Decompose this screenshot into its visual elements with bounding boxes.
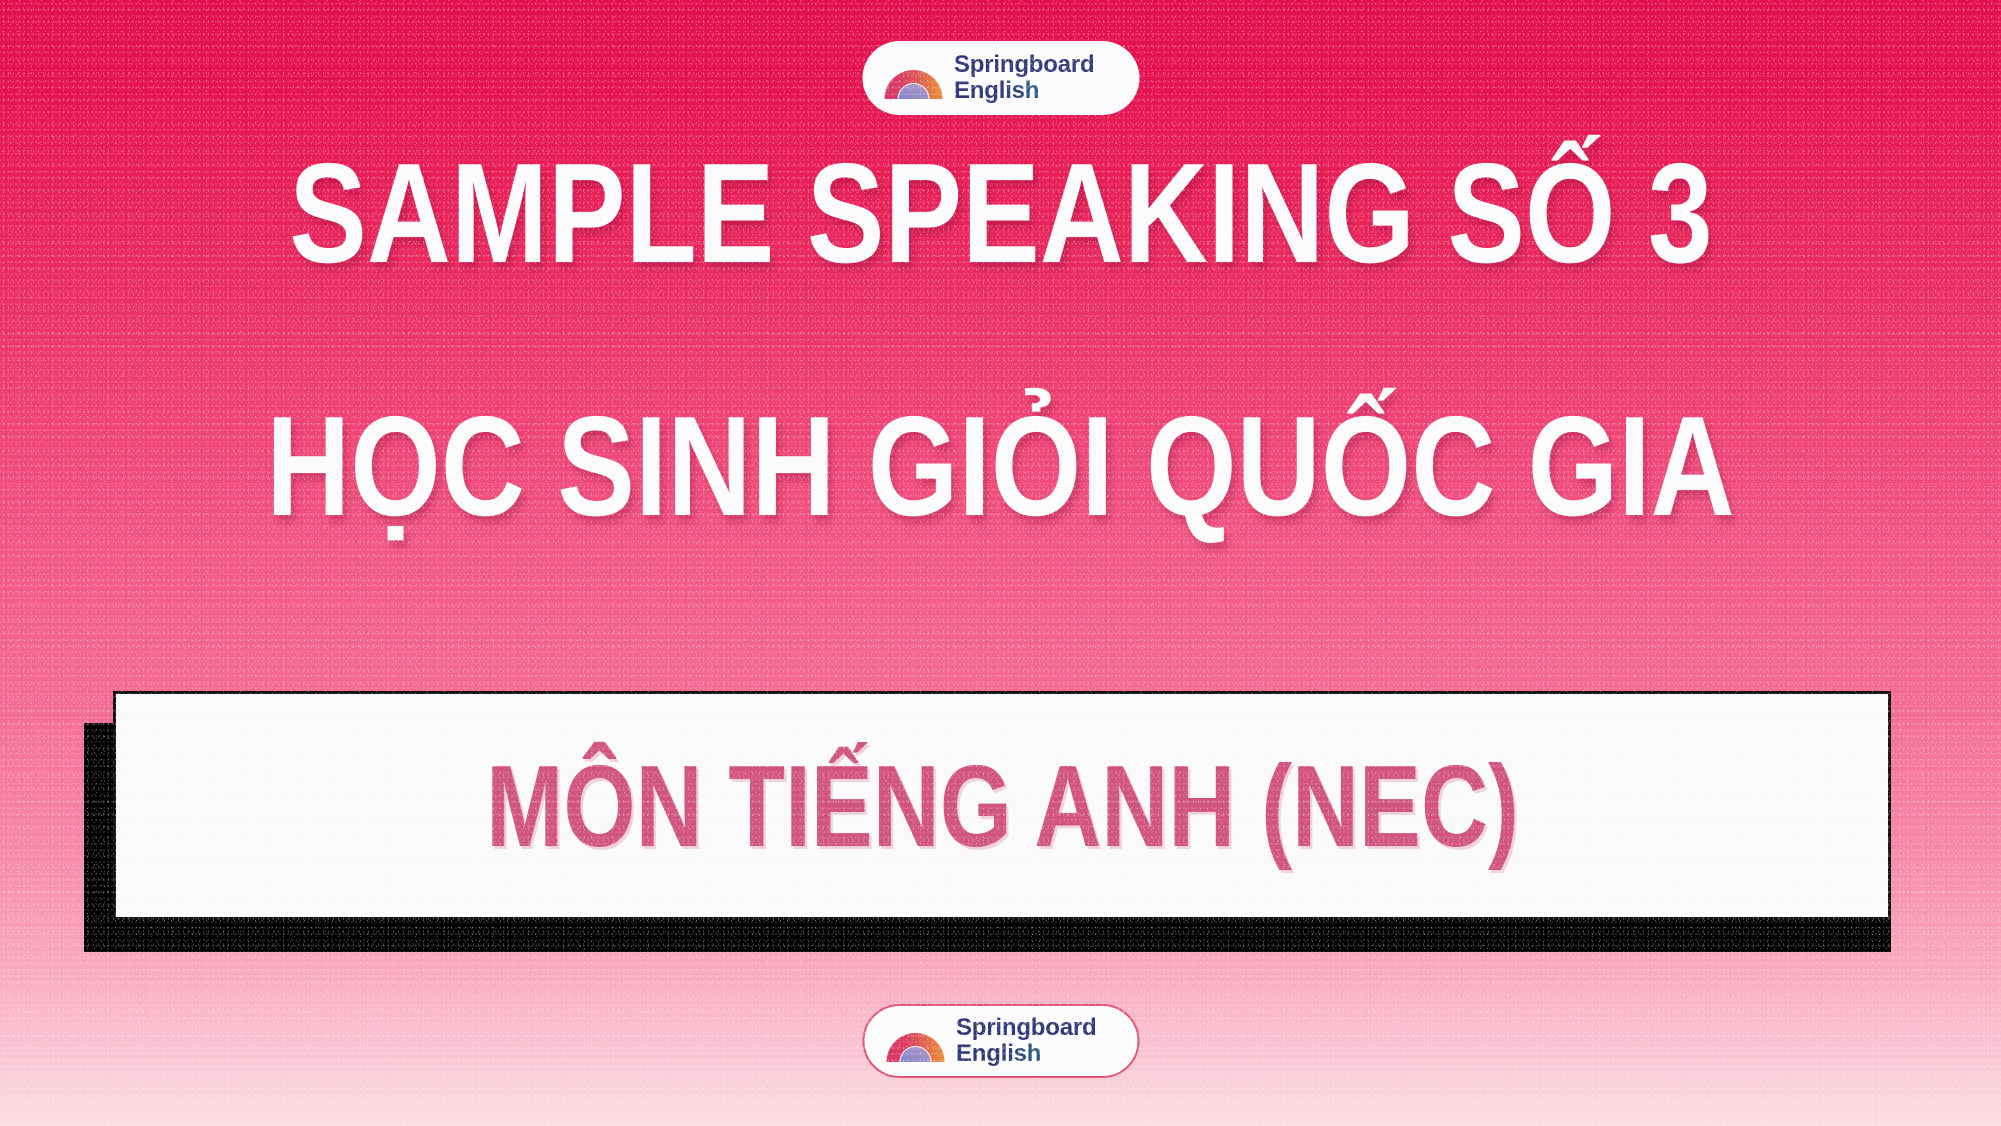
headline-line-1: SAMPLE SPEAKING SỐ 3	[0, 143, 2001, 285]
logo-word-english: English	[956, 1042, 1096, 1066]
logo-wordmark: Springboard English	[956, 1016, 1096, 1066]
subject-banner-box: MÔN TIẾNG ANH (NEC)	[113, 691, 1891, 920]
springboard-arch-mark-icon	[882, 56, 944, 100]
logo-badge-bottom[interactable]: Springboard English	[862, 1004, 1139, 1078]
headline-line-1-text: SAMPLE SPEAKING SỐ 3	[289, 143, 1712, 285]
logo-word-springboard: Springboard	[954, 53, 1094, 77]
logo-badge-top[interactable]: Springboard English	[862, 41, 1139, 115]
headline-line-2-text: HỌC SINH GIỎI QUỐC GIA	[266, 396, 1735, 538]
subject-banner-text: MÔN TIẾNG ANH (NEC)	[486, 748, 1519, 864]
subject-banner: MÔN TIẾNG ANH (NEC)	[113, 691, 1891, 920]
logo-wordmark: Springboard English	[954, 53, 1094, 103]
headline-line-2: HỌC SINH GIỎI QUỐC GIA	[0, 396, 2001, 538]
springboard-arch-mark-icon	[884, 1019, 946, 1063]
logo-word-springboard: Springboard	[956, 1016, 1096, 1040]
poster-canvas: Springboard English SAMPLE SPEAKING SỐ 3…	[0, 0, 2001, 1126]
logo-word-english: English	[954, 79, 1094, 103]
